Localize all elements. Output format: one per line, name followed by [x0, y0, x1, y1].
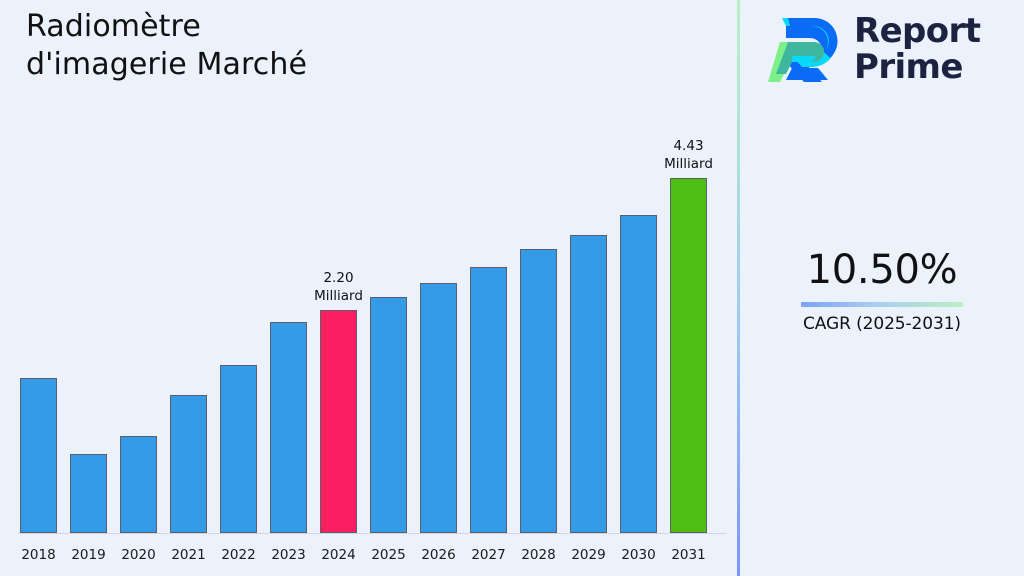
x-tick-label-2031: 2031	[671, 547, 705, 563]
bar-2023[interactable]	[270, 322, 307, 533]
x-tick-label-2018: 2018	[21, 547, 55, 563]
bar-group-2030[interactable]: 2030	[620, 0, 657, 576]
cagr-value: 10.50%	[740, 250, 1024, 290]
report-prime-logo-icon	[768, 12, 840, 88]
bar-group-2028[interactable]: 2028	[520, 0, 557, 576]
bar-group-2025[interactable]: 2025	[370, 0, 407, 576]
bar-group-2027[interactable]: 2027	[470, 0, 507, 576]
side-panel: Report Prime 10.50% CAGR (2025-2031)	[740, 0, 1024, 576]
bar-group-2019[interactable]: 2019	[70, 0, 107, 576]
x-tick-label-2020: 2020	[121, 547, 155, 563]
bar-2028[interactable]	[520, 249, 557, 533]
bar-2030[interactable]	[620, 215, 657, 533]
bar-group-2020[interactable]: 2020	[120, 0, 157, 576]
bar-2029[interactable]	[570, 235, 607, 533]
bar-2026[interactable]	[420, 283, 457, 533]
bar-2021[interactable]	[170, 395, 207, 533]
cagr-rule-divider	[801, 302, 963, 307]
brand-logo[interactable]: Report Prime	[768, 12, 980, 88]
bar-group-2029[interactable]: 2029	[570, 0, 607, 576]
bar-group-2021[interactable]: 2021	[170, 0, 207, 576]
bar-2024[interactable]	[320, 310, 357, 533]
bar-2019[interactable]	[70, 454, 107, 533]
bar-2025[interactable]	[370, 297, 407, 533]
x-tick-label-2024: 2024	[321, 547, 355, 563]
bar-group-2022[interactable]: 2022	[220, 0, 257, 576]
bar-2018[interactable]	[20, 378, 57, 533]
cagr-block: 10.50% CAGR (2025-2031)	[740, 250, 1024, 334]
bar-group-2026[interactable]: 2026	[420, 0, 457, 576]
x-tick-label-2030: 2030	[621, 547, 655, 563]
x-tick-label-2028: 2028	[521, 547, 555, 563]
bar-chart-plot-area: 2018201920202021202220232.20 Milliard202…	[0, 0, 738, 576]
x-tick-label-2021: 2021	[171, 547, 205, 563]
bar-group-2024[interactable]: 2.20 Milliard2024	[320, 0, 357, 576]
bar-group-2031[interactable]: 4.43 Milliard2031	[670, 0, 707, 576]
bar-2022[interactable]	[220, 365, 257, 533]
x-tick-label-2019: 2019	[71, 547, 105, 563]
bar-2027[interactable]	[470, 267, 507, 533]
cagr-caption: CAGR (2025-2031)	[740, 314, 1024, 334]
chart-panel: Radiomètre d'imagerie Marché 20182019202…	[0, 0, 738, 576]
x-tick-label-2022: 2022	[221, 547, 255, 563]
x-tick-label-2029: 2029	[571, 547, 605, 563]
x-tick-label-2023: 2023	[271, 547, 305, 563]
x-tick-label-2025: 2025	[371, 547, 405, 563]
bar-value-label-2031: 4.43 Milliard	[644, 138, 734, 173]
bar-2031[interactable]	[670, 178, 707, 533]
bar-2020[interactable]	[120, 436, 157, 533]
x-tick-label-2026: 2026	[421, 547, 455, 563]
x-tick-label-2027: 2027	[471, 547, 505, 563]
bar-group-2018[interactable]: 2018	[20, 0, 57, 576]
brand-logo-text: Report Prime	[854, 14, 980, 85]
